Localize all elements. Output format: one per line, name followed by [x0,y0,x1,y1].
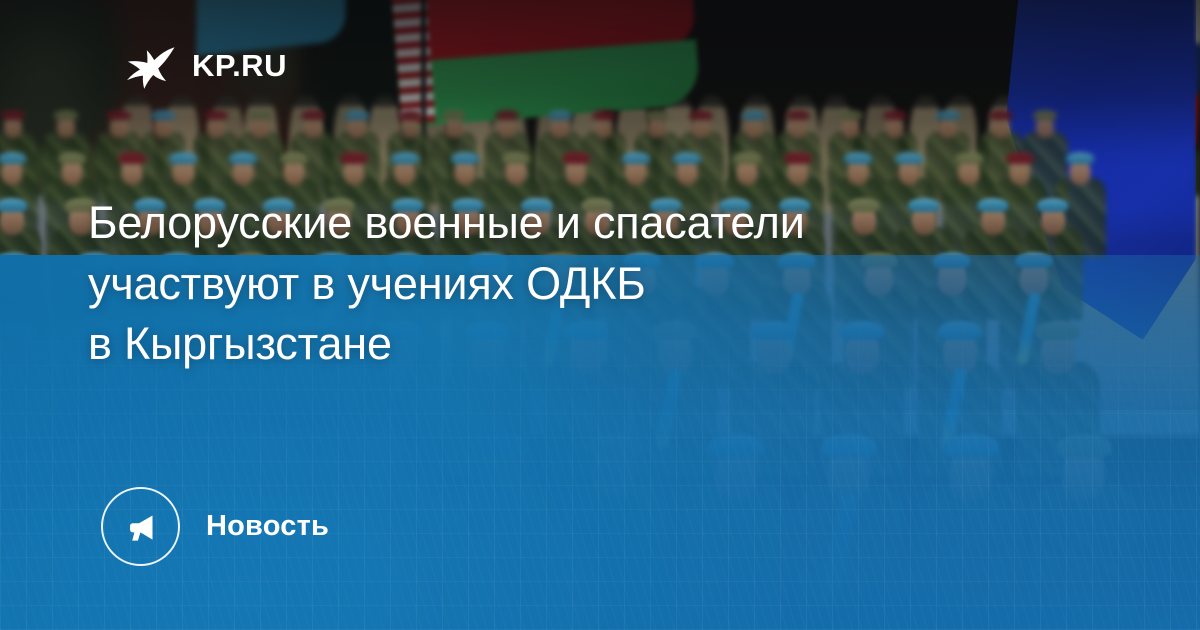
swallow-bird-icon [116,34,178,96]
page-title: Белорусские военные и спасатели участвую… [88,193,1098,375]
headline-line-3: в Кыргызстане [88,314,1098,375]
headline-line-1: Белорусские военные и спасатели [88,193,1098,254]
news-share-card: KP.RU Белорусские военные и спасатели уч… [0,0,1200,630]
headline-line-2: участвуют в учениях ОДКБ [88,254,1098,315]
status-badge-label: Новость [206,510,329,543]
megaphone-icon [101,487,180,566]
kp-logo[interactable]: KP.RU [116,34,287,96]
kp-logo-text: KP.RU [192,50,287,81]
status-badge[interactable]: Новость [101,487,329,566]
